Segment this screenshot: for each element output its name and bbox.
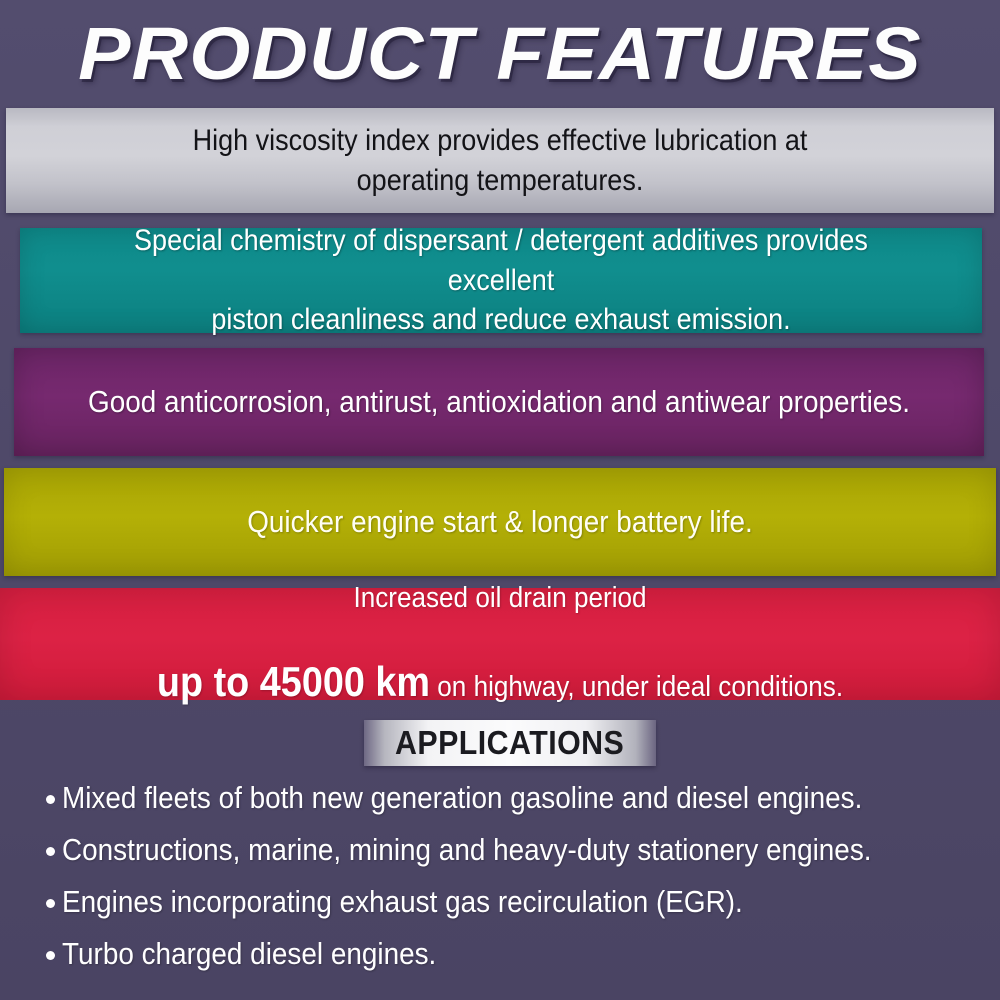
oil-drain-line-1: Increased oil drain period — [64, 580, 935, 617]
list-item: Mixed fleets of both new generation gaso… — [46, 778, 976, 819]
application-item-label: Mixed fleets of both new generation gaso… — [62, 778, 862, 819]
oil-drain-highlight: up to 45000 km — [157, 658, 430, 705]
list-item: Engines incorporating exhaust gas recirc… — [46, 882, 976, 923]
product-features-poster: PRODUCT FEATURES High viscosity index pr… — [0, 0, 1000, 1000]
bullet-dot-icon — [46, 795, 55, 804]
feature-band-oil-drain-period: Increased oil drain period up to 45000 k… — [0, 588, 1000, 700]
bullet-dot-icon — [46, 899, 55, 908]
applications-heading-plate: APPLICATIONS — [364, 720, 656, 766]
feature-text-anticorrosion: Good anticorrosion, antirust, antioxidat… — [86, 382, 912, 422]
applications-list: Mixed fleets of both new generation gaso… — [46, 778, 976, 986]
list-item: Constructions, marine, mining and heavy-… — [46, 830, 976, 871]
feature-band-viscosity-index: High viscosity index provides effective … — [6, 108, 994, 213]
feature-text-viscosity-index: High viscosity index provides effective … — [79, 121, 921, 200]
applications-heading: APPLICATIONS — [395, 724, 624, 762]
feature-text-oil-drain-period: Increased oil drain period up to 45000 k… — [64, 543, 935, 745]
feature-text-engine-start-battery: Quicker engine start & longer battery li… — [77, 502, 923, 542]
page-title: PRODUCT FEATURES — [78, 17, 921, 91]
oil-drain-tail: on highway, under ideal conditions. — [430, 671, 843, 703]
feature-band-anticorrosion: Good anticorrosion, antirust, antioxidat… — [14, 348, 984, 456]
application-item-label: Turbo charged diesel engines. — [62, 934, 436, 975]
bullet-dot-icon — [46, 847, 55, 856]
bullet-dot-icon — [46, 951, 55, 960]
feature-text-dispersant-detergent: Special chemistry of dispersant / deterg… — [92, 221, 911, 340]
list-item: Turbo charged diesel engines. — [46, 934, 976, 975]
feature-band-dispersant-detergent: Special chemistry of dispersant / deterg… — [20, 228, 982, 333]
oil-drain-line-2: up to 45000 km on highway, under ideal c… — [64, 656, 935, 709]
application-item-label: Constructions, marine, mining and heavy-… — [62, 830, 872, 871]
page-title-container: PRODUCT FEATURES — [0, 8, 1000, 100]
application-item-label: Engines incorporating exhaust gas recirc… — [62, 882, 743, 923]
